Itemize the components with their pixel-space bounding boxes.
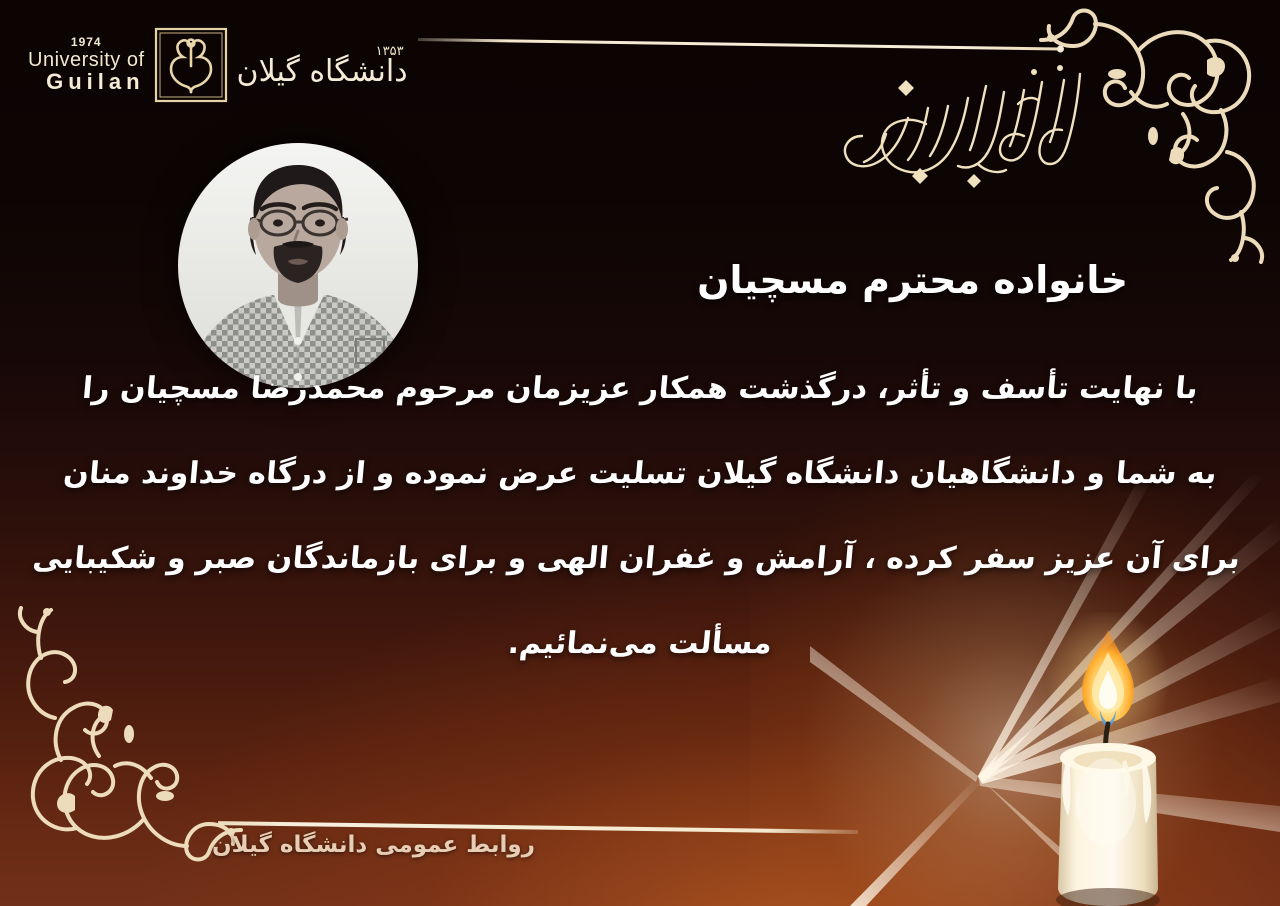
logo-name-en-line2: Guilan (46, 71, 144, 94)
deceased-portrait-icon (178, 143, 418, 388)
university-logo: 1974 University of Guilan ۱۳۵۳ دانشگاه گ… (28, 26, 410, 104)
message-line-3: برای آن عزیز سفر کرده ، آرامش و غفران ال… (39, 542, 1242, 575)
message-line-2: به شما و دانشگاهیان دانشگاه گیلان تسلیت … (39, 457, 1242, 490)
logo-year-en: 1974 (71, 36, 102, 48)
message-body: با نهایت تأسف و تأثر، درگذشت همکار عزیزم… (40, 372, 1240, 660)
logo-english: 1974 University of Guilan (28, 36, 145, 93)
gold-divider-line-top (418, 38, 1060, 51)
quranic-calligraphy-icon: انا لله و انا الیه راجعون (828, 46, 1098, 196)
logo-name-fa: دانشگاه گیلان (237, 57, 408, 87)
logo-name-en-line1: University of (28, 50, 145, 71)
condolence-poster: 1974 University of Guilan ۱۳۵۳ دانشگاه گ… (0, 0, 1280, 906)
footer-public-relations: روابط عمومی دانشگاه گیلان (212, 832, 535, 858)
guilan-university-emblem-icon (153, 26, 229, 104)
page-title: خانواده محترم مسچیان (697, 258, 1128, 302)
logo-persian: ۱۳۵۳ دانشگاه گیلان (237, 44, 408, 87)
message-line-1: با نهایت تأسف و تأثر، درگذشت همکار عزیزم… (39, 372, 1242, 405)
arabesque-corner-ornament-top-right-icon (1035, 6, 1270, 268)
message-line-4: مسألت می‌نمائیم. (39, 627, 1242, 660)
